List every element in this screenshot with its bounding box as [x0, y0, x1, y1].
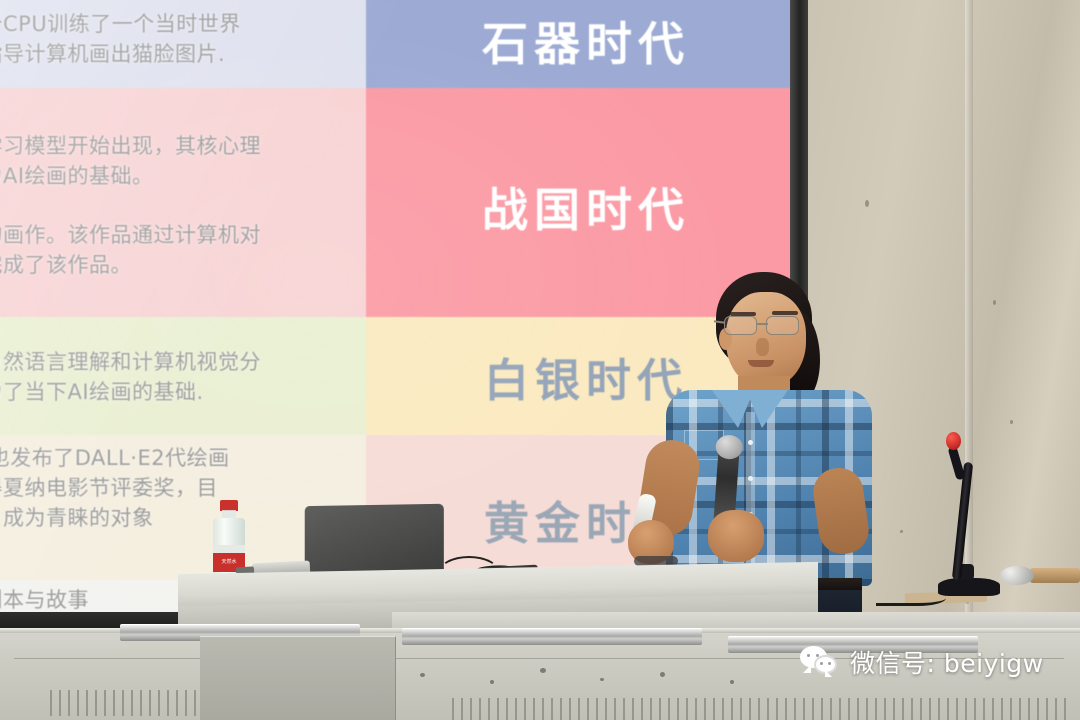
wechat-watermark: 微信号: beiyigw — [800, 640, 1044, 684]
macbook-laptop[interactable] — [302, 505, 442, 577]
gooseneck-mic-red-tip[interactable] — [946, 432, 961, 450]
bottle-label-text: 天然水 — [213, 558, 245, 565]
glasses-icon — [720, 316, 812, 336]
wechat-logo-icon — [800, 646, 840, 678]
presenter-hand-right — [708, 510, 764, 562]
presenter-brow-right — [772, 311, 798, 315]
slide-heading-warring-states: 战国时代 — [366, 174, 806, 240]
presenter-mouth — [748, 360, 774, 367]
slide-paragraph-silver-age: 行自然语言理解和计算机视觉分 成为了当下AI绘画的基础. — [0, 348, 360, 408]
presenter-nose — [756, 338, 769, 356]
wechat-id-text: 微信号: beiyigw — [850, 644, 1044, 680]
gooseneck-mic-base — [938, 578, 1000, 596]
microphone-cable — [876, 586, 946, 606]
drawer-rail-center — [402, 628, 702, 645]
spare-microphone-handle — [1030, 568, 1080, 583]
slide-paragraph-stone-age: 万个CPU训练了一个当时世界 来指导计算机画出猫脸图片. — [0, 10, 360, 70]
photo-canvas: 石器时代 战国时代 白银时代 黄金时代 — [0, 0, 1080, 720]
spare-microphone-head[interactable] — [1000, 566, 1034, 585]
slide-heading-stone-age: 石器时代 — [366, 8, 806, 74]
lectern-drawer[interactable] — [200, 636, 396, 720]
slide-paragraph-warring-states: 度学习模型开始出现，其核心理 成为AI绘画的基础。 成的画作。该作品通过计算机对… — [0, 132, 360, 281]
slide-row-stone-age-right: 石器时代 — [366, 0, 806, 88]
apple-logo-icon — [364, 535, 380, 553]
ventilation-grille-right — [452, 698, 1072, 720]
